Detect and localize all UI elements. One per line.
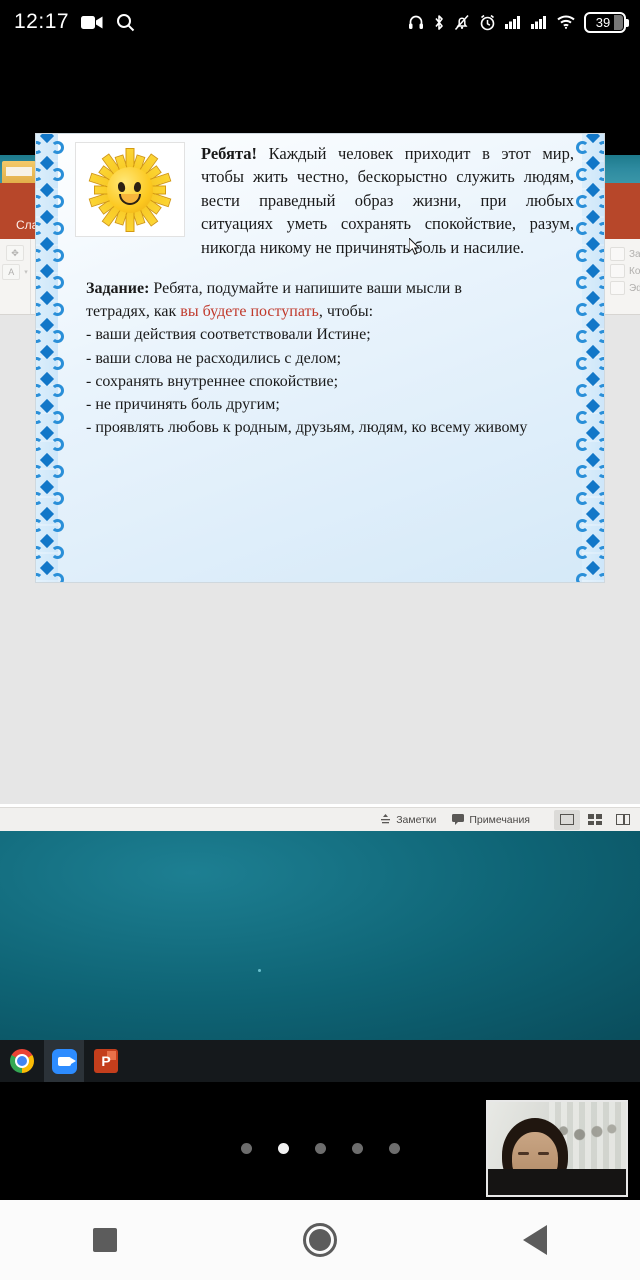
shape-outline-label[interactable]: Контур фи [629,266,640,277]
ornament-unit [582,454,604,481]
windows-taskbar: P [0,1040,640,1082]
task-intro-2a: тетрадях, как [86,303,180,320]
ornament-unit [36,184,58,211]
wallpaper-speck [258,969,261,972]
task-item: - ваши слова не расходились с делом; [86,347,574,370]
ornament-unit [582,400,604,427]
ornament-unit [582,535,604,562]
ornament-unit [582,133,604,157]
sun-mouth-icon [119,194,141,205]
ornament-unit [582,481,604,508]
presentation-slide[interactable]: Ребята! Каждый человек приходит в этот м… [35,133,605,583]
back-button[interactable] [523,1225,547,1255]
android-navigation-bar [0,1200,640,1280]
reading-view-button[interactable] [610,810,636,830]
normal-view-button[interactable] [554,810,580,830]
comments-button[interactable]: Примечания [452,814,530,826]
task-item: - сохранять внутреннее спокойствие; [86,370,574,393]
ornament-unit [36,292,58,319]
status-clock: 12:17 [14,10,69,34]
slide-paragraph: Ребята! Каждый человек приходит в этот м… [201,142,574,259]
phone-screen: 12:17 [0,0,640,1280]
page-dot[interactable] [389,1143,400,1154]
alarm-clock-icon [479,14,496,31]
shape-effects-icon [610,281,625,295]
ornament-unit [36,157,58,184]
ornament-unit [582,346,604,373]
ornament-unit [36,400,58,427]
ornament-unit [582,508,604,535]
ornament-unit [36,211,58,238]
page-dot[interactable] [352,1143,363,1154]
shape-fill-icon [610,247,625,261]
webcam-thumbnail[interactable] [486,1100,628,1197]
shape-effects-label[interactable]: Эффекты ф [629,283,640,294]
slide-paragraph-bold: Ребята! [201,144,257,163]
ornament-unit [36,481,58,508]
task-highlight: вы будете поступать [180,303,319,320]
page-dot[interactable] [278,1143,289,1154]
task-header: Задание: [86,280,149,297]
sun-eye-right-icon [133,181,141,192]
shape-outline-icon [610,264,625,278]
powerpoint-icon: P [94,1049,118,1073]
headphones-icon [408,14,424,30]
task-intro-1: Ребята, подумайте и напишите ваши мысли … [149,280,462,297]
signal-bars-2-icon [531,15,548,29]
task-intro-2b: , чтобы: [319,303,373,320]
ornament-unit [36,508,58,535]
ornament-unit [36,373,58,400]
ornament-unit [582,292,604,319]
slide-sorter-view-button[interactable] [582,810,608,830]
desktop-folder-icon [2,161,36,183]
home-button[interactable] [303,1223,337,1257]
ornament-unit [582,211,604,238]
ornament-unit [582,427,604,454]
slide-task-block: Задание: Ребята, подумайте и напишите ва… [86,277,574,439]
taskbar-chrome-button[interactable] [2,1040,42,1082]
ornament-unit [36,535,58,562]
slide-paragraph-text: Каждый человек приходит в этот мир, чтоб… [201,144,574,257]
ornament-unit [36,346,58,373]
ornament-unit [36,562,58,583]
ornament-unit [582,319,604,346]
font-color-icon[interactable]: A [2,264,20,280]
ornament-unit [36,238,58,265]
ornament-unit [582,265,604,292]
zoom-icon [52,1049,77,1074]
android-status-bar: 12:17 [0,0,640,44]
chrome-icon [10,1049,34,1073]
mouse-cursor-icon [409,238,421,256]
task-item: - не причинять боль другим; [86,393,574,416]
task-item: - проявлять любовь к родным, друзьям, лю… [86,416,574,439]
slide-right-ornament-border [582,134,604,582]
ornament-unit [36,454,58,481]
taskbar-zoom-button[interactable] [44,1040,84,1082]
search-icon[interactable] [116,13,135,32]
task-intro-line-2: тетрадях, как вы будете поступать, чтобы… [86,300,574,323]
wifi-icon [557,15,575,29]
task-intro-line-1: Задание: Ребята, подумайте и напишите ва… [86,277,574,300]
video-camera-icon [81,15,103,30]
bell-muted-icon [454,14,470,31]
comments-label: Примечания [469,814,530,826]
format-painter-icon[interactable]: ✥ [6,245,24,261]
view-mode-buttons [554,810,636,830]
remote-desktop-wallpaper [0,831,640,1040]
recents-button[interactable] [93,1228,117,1252]
ornament-unit [582,562,604,583]
page-dot[interactable] [315,1143,326,1154]
ornament-unit [582,184,604,211]
taskbar-powerpoint-button[interactable]: P [86,1040,126,1082]
ornament-unit [582,238,604,265]
bluetooth-icon [433,14,445,31]
ribbon-group-clipboard-font: ✥ A▾ [0,239,30,314]
ornament-unit [582,157,604,184]
notes-label: Заметки [396,814,436,826]
signal-bars-icon [505,15,522,29]
ornament-unit [36,133,58,157]
ornament-unit [582,373,604,400]
ornament-unit [36,319,58,346]
ornament-unit [36,265,58,292]
page-dot[interactable] [241,1143,252,1154]
battery-indicator: 39 [584,12,626,33]
battery-level-text: 39 [596,15,610,30]
task-item: - ваши действия соответствовали Истине; [86,323,574,346]
shape-fill-label[interactable]: Заливка фи [629,249,640,260]
ornament-unit [36,427,58,454]
participant-shoulders [488,1169,626,1195]
powerpoint-status-bar: Заметки Примечания [0,807,640,831]
sun-eye-left-icon [117,181,126,192]
notes-button[interactable]: Заметки [380,814,436,826]
slide-left-ornament-border [36,134,58,582]
